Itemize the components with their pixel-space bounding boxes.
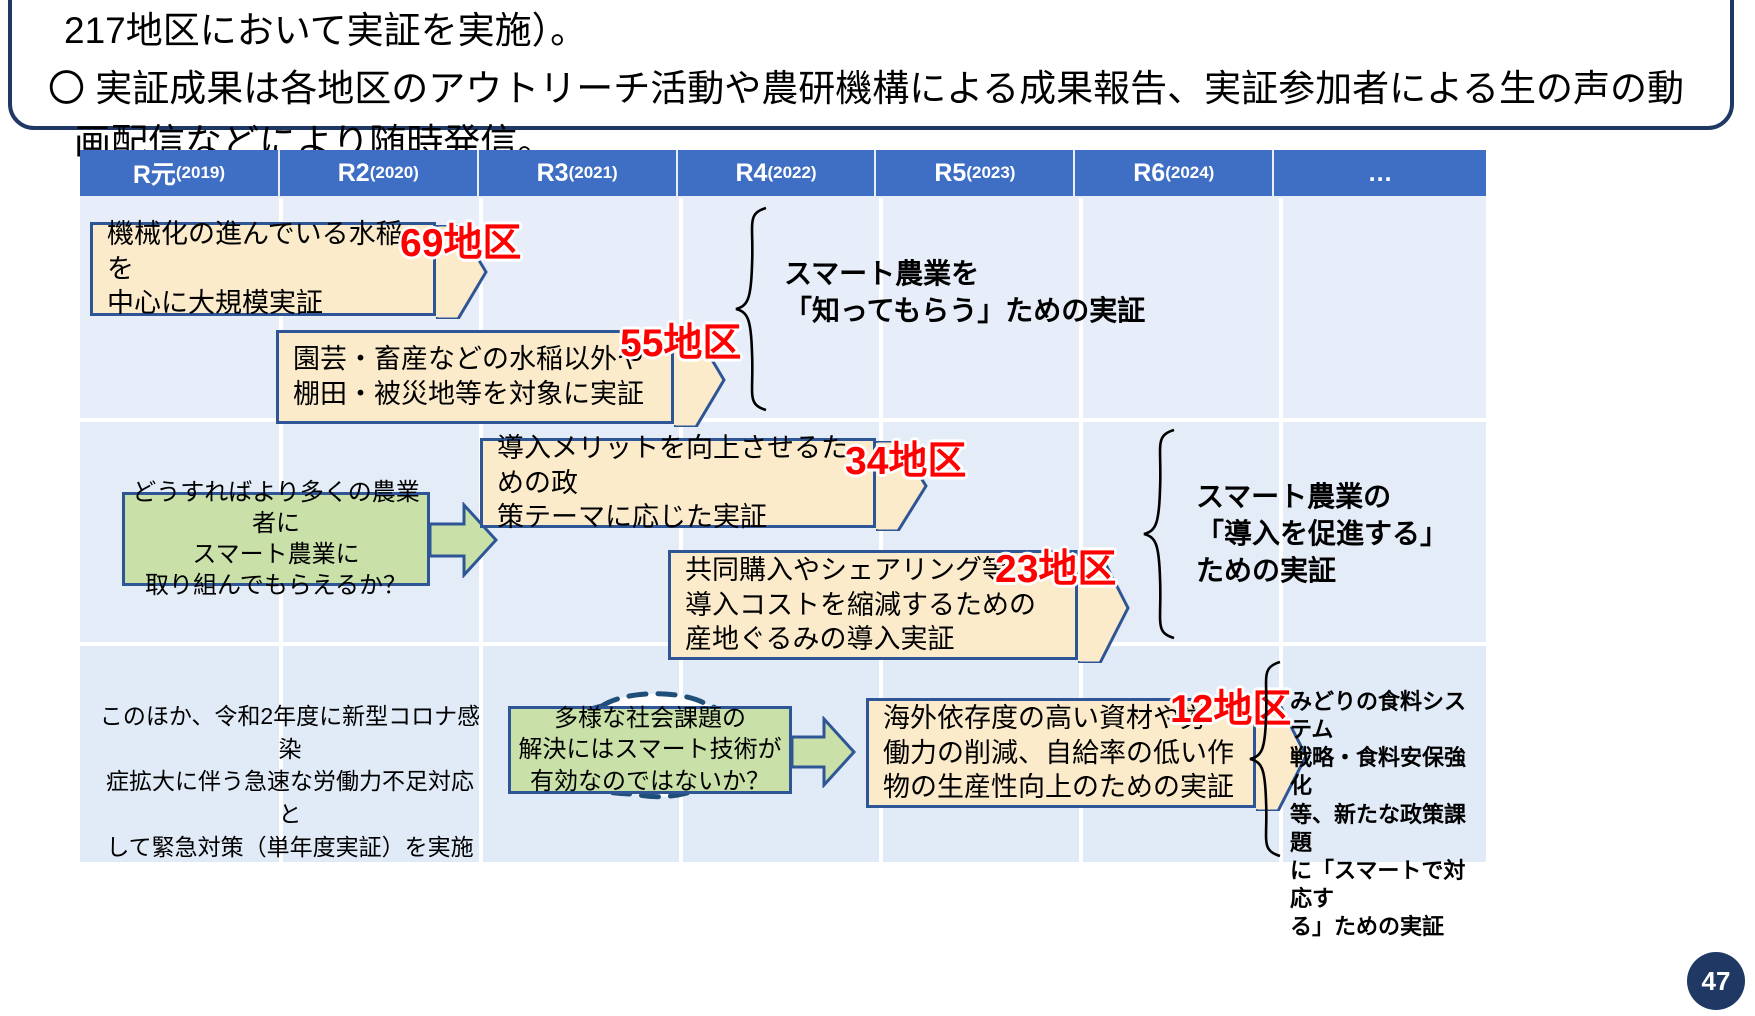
header-cell-r3: R3(2021)	[479, 150, 676, 196]
green-question-box-1-text: どうすればより多くの農業者に スマート農業に 取り組んでもらえるか？	[125, 477, 427, 602]
brace-promote	[1140, 428, 1186, 645]
callout-line-1: 〇 実証成果は各地区のアウトリーチ活動や農研機構による成果報告、実証参加者による…	[48, 58, 1684, 112]
header-main-r1: R元	[133, 155, 176, 191]
header-main-r2: R2	[338, 159, 370, 188]
header-sub-r6: (2024)	[1165, 163, 1214, 183]
arrow-callout-1: 機械化の進んでいる水稲を 中心に大規模実証	[90, 222, 436, 316]
arrow-callout-1-text: 機械化の進んでいる水稲を 中心に大規模実証	[93, 217, 433, 321]
header-main-r3: R3	[537, 159, 569, 188]
count-badge-1: 69地区	[400, 212, 521, 268]
section-label-promote: スマート農業の 「導入を促進する」 ための実証	[1196, 478, 1448, 590]
green-question-box-2: 多様な社会課題の 解決にはスマート技術が 有効なのではないか？	[508, 706, 792, 794]
count-badge-2: 55地区	[620, 312, 741, 368]
header-cell-r5: R5(2023)	[876, 150, 1073, 196]
brace-know	[732, 206, 778, 417]
header-cell-r1: R元(2019)	[80, 150, 278, 196]
green-arrow-2	[790, 716, 856, 793]
header-main-r4: R4	[735, 159, 767, 188]
section-label-know: スマート農業を 「知ってもらう」ための実証	[784, 255, 1145, 329]
green-question-box-2-text: 多様な社会課題の 解決にはスマート技術が 有効なのではないか？	[518, 703, 781, 797]
arrow-callout-2-text: 園芸・畜産などの水稲以外や 棚田・被災地等を対象に実証	[279, 342, 671, 411]
section-label-green-strategy: みどりの食料システム 戦略・食料安保強化 等、新たな政策課題 に「スマートで対応…	[1290, 688, 1486, 941]
callout-line-0: 217地区において実証を実施）。	[64, 0, 587, 54]
header-sub-r3: (2021)	[569, 163, 618, 183]
header-cell-r2: R2(2020)	[280, 150, 477, 196]
arrow-callout-3-text: 導入メリットを向上させるための政 策テーマに応じた実証	[483, 431, 873, 535]
timeline-header-row: R元(2019) R2(2020) R3(2021) R4(2022) R5(2…	[80, 150, 1486, 196]
brace-green-strategy	[1248, 660, 1292, 863]
header-cell-r4: R4(2022)	[678, 150, 875, 196]
header-main-r5: R5	[934, 159, 966, 188]
covid-emergency-note: このほか、令和2年度に新型コロナ感染 症拡大に伴う急速な労働力不足対応と して緊…	[95, 700, 485, 863]
arrow-callout-2: 園芸・畜産などの水稲以外や 棚田・被災地等を対象に実証	[276, 330, 674, 424]
arrow-callout-3: 導入メリットを向上させるための政 策テーマに応じた実証	[480, 438, 876, 528]
top-callout-box: 217地区において実証を実施）。 〇 実証成果は各地区のアウトリーチ活動や農研機…	[8, 0, 1734, 130]
count-badge-3: 34地区	[845, 430, 966, 486]
header-sub-r2: (2020)	[370, 163, 419, 183]
header-sub-r1: (2019)	[176, 163, 225, 183]
header-cell-r6: R6(2024)	[1075, 150, 1272, 196]
page-number-badge: 47	[1687, 952, 1745, 1010]
header-main-future: …	[1368, 159, 1393, 188]
header-sub-r5: (2023)	[966, 163, 1015, 183]
header-sub-r4: (2022)	[767, 163, 816, 183]
timeline-table: R元(2019) R2(2020) R3(2021) R4(2022) R5(2…	[80, 150, 1486, 862]
count-badge-4: 23地区	[995, 538, 1116, 594]
header-cell-future: …	[1274, 150, 1486, 196]
header-main-r6: R6	[1133, 159, 1165, 188]
green-question-box-1: どうすればより多くの農業者に スマート農業に 取り組んでもらえるか？	[122, 492, 430, 586]
